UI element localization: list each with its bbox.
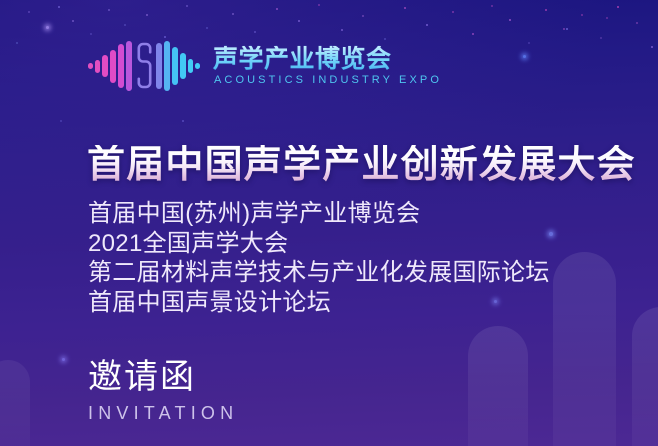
logo-wave-bar xyxy=(188,59,193,73)
star-particle xyxy=(318,4,320,6)
star-particle xyxy=(60,120,62,122)
star-particle xyxy=(581,14,583,16)
decor-bar-1 xyxy=(468,326,528,446)
logo-wave-bar xyxy=(164,41,170,91)
star-particle xyxy=(341,29,343,31)
star-particle xyxy=(566,28,568,30)
decor-bar-2 xyxy=(553,252,616,446)
page-title: 首届中国声学产业创新发展大会 xyxy=(87,145,636,186)
logo-wave-bar xyxy=(126,41,132,91)
star-particle xyxy=(362,15,364,17)
star-particle xyxy=(606,17,608,19)
expo-logo: 声学产业博览会 ACOUSTICS INDUSTRY EXPO xyxy=(88,40,442,92)
waveform-s-icon xyxy=(88,40,200,92)
event-subtitle-line: 第二届材料声学技术与产业化发展国际论坛 xyxy=(88,258,550,288)
star-particle xyxy=(617,6,619,8)
star-particle xyxy=(563,28,565,30)
star-particle xyxy=(472,33,474,35)
star-particle xyxy=(58,6,60,8)
invitation-label-cn: 邀请函 xyxy=(88,358,238,397)
invitation-poster: 声学产业博览会 ACOUSTICS INDUSTRY EXPO 首届中国声学产业… xyxy=(0,0,658,446)
invitation-block: 邀请函 INVITATION xyxy=(88,358,238,422)
event-subtitle-line: 2021全国声学大会 xyxy=(88,229,550,259)
star-particle xyxy=(16,42,18,44)
logo-wave-bar xyxy=(88,63,93,69)
logo-name-cn: 声学产业博览会 xyxy=(213,46,442,72)
star-particle xyxy=(206,27,208,29)
star-particle xyxy=(404,7,406,9)
star-particle xyxy=(186,5,188,7)
event-subtitle-line: 首届中国(苏州)声学产业博览会 xyxy=(88,199,550,229)
star-particle xyxy=(600,37,602,39)
star-particle xyxy=(72,20,74,22)
star-particle xyxy=(232,13,234,15)
logo-wave-bar xyxy=(102,55,108,77)
logo-wave-bar xyxy=(118,44,124,88)
logo-wordmark: 声学产业博览会 ACOUSTICS INDUSTRY EXPO xyxy=(213,46,442,86)
star-particle xyxy=(164,36,166,38)
star-particle xyxy=(545,9,547,11)
logo-wave-bar xyxy=(195,63,200,69)
star-particle xyxy=(509,19,511,21)
star-particle xyxy=(46,26,49,29)
star-particle xyxy=(523,55,526,58)
star-particle xyxy=(90,33,92,35)
logo-wave-bar xyxy=(156,43,162,89)
star-particle xyxy=(426,24,428,26)
decor-bar-4 xyxy=(0,360,30,446)
star-particle xyxy=(254,31,256,33)
star-particle xyxy=(146,14,148,16)
star-particle xyxy=(28,11,30,13)
logo-wave-bar xyxy=(110,50,116,83)
star-particle xyxy=(124,24,126,26)
star-particle xyxy=(636,22,638,24)
star-particle xyxy=(528,42,530,44)
star-particle xyxy=(452,11,454,13)
star-particle xyxy=(108,9,110,11)
logo-name-en: ACOUSTICS INDUSTRY EXPO xyxy=(213,75,442,86)
star-particle xyxy=(182,120,184,122)
decor-bar-3 xyxy=(632,307,658,446)
star-particle xyxy=(276,8,278,10)
logo-wave-bar xyxy=(172,47,178,85)
star-particle xyxy=(491,5,493,7)
logo-wave-bar xyxy=(95,60,100,73)
invitation-label-en: INVITATION xyxy=(88,404,238,422)
star-particle xyxy=(298,20,300,22)
logo-wave-bar xyxy=(180,53,186,79)
star-particle xyxy=(62,358,65,361)
logo-s-letter-icon xyxy=(134,43,154,89)
event-subtitle-list: 首届中国(苏州)声学产业博览会 2021全国声学大会 第二届材料声学技术与产业化… xyxy=(88,199,550,317)
star-particle xyxy=(651,46,653,48)
event-subtitle-line: 首届中国声景设计论坛 xyxy=(88,288,550,318)
